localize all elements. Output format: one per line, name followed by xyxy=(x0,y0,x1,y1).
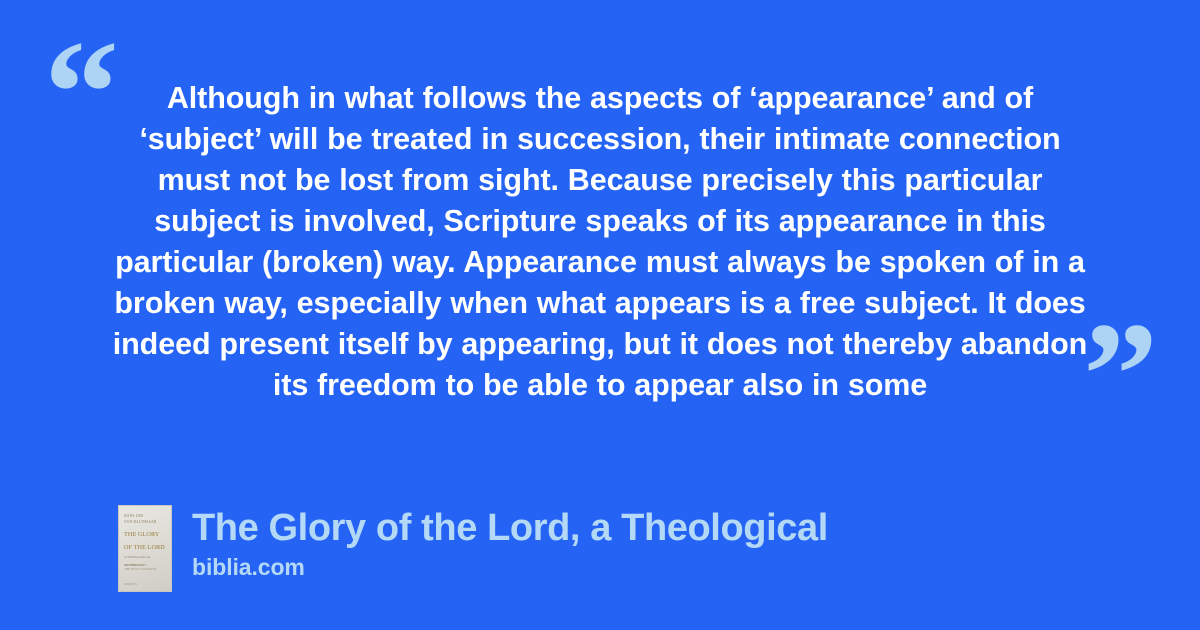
book-cover-author-line-1: HANS URS xyxy=(124,514,166,518)
quote-text: Although in what follows the aspects of … xyxy=(110,78,1090,406)
open-quote-icon: “ xyxy=(44,18,117,168)
book-cover-title-line-1: THE GLORY xyxy=(124,531,166,538)
book-cover-author-line-2: VON BALTHASAR xyxy=(124,520,166,524)
book-cover-volume-block: VII THEOLOGY: THE NEW COVENANT xyxy=(124,563,166,571)
book-title: The Glory of the Lord, a Theological xyxy=(192,505,828,551)
book-cover-text-block: HANS URS VON BALTHASAR THE GLORY OF THE … xyxy=(124,514,166,567)
source-meta: The Glory of the Lord, a Theological bib… xyxy=(192,505,828,581)
book-cover-volume-line-2: THE NEW COVENANT xyxy=(124,567,166,571)
book-cover-subtitle-line-1: A THEOLOGICAL xyxy=(124,555,166,559)
book-cover-title-line-2: OF THE LORD xyxy=(124,544,166,551)
site-name: biblia.com xyxy=(192,553,828,581)
quote-card: “ Although in what follows the aspects o… xyxy=(0,0,1200,630)
close-quote-icon: ” xyxy=(1083,300,1156,450)
book-cover-thumbnail: HANS URS VON BALTHASAR THE GLORY OF THE … xyxy=(118,505,172,592)
book-cover-publisher: IGNATIUS xyxy=(124,583,137,586)
source-footer: HANS URS VON BALTHASAR THE GLORY OF THE … xyxy=(118,505,828,592)
